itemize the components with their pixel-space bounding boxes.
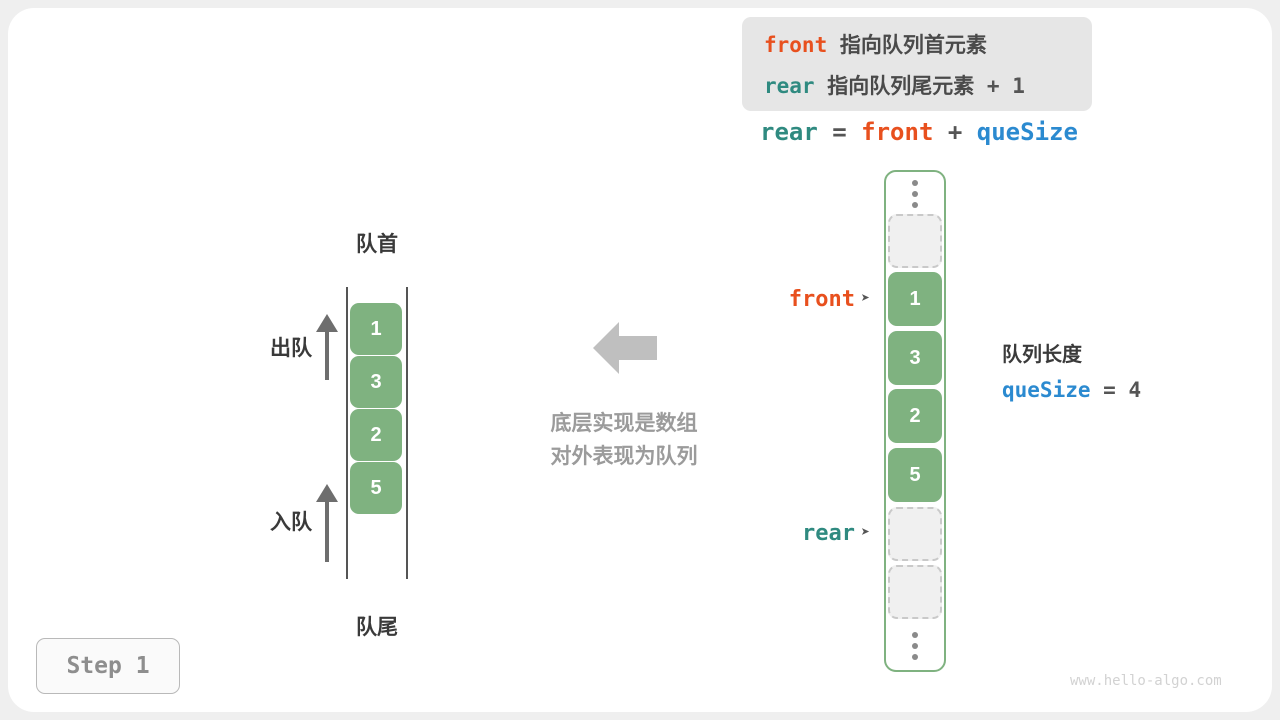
queue-size-expression: queSize = 4 xyxy=(1002,373,1141,407)
queue-cell-1: 3 xyxy=(350,356,402,408)
array-cell-3: 2 xyxy=(888,389,942,443)
array-cell-1: 1 xyxy=(888,272,942,326)
quesize-equals: = xyxy=(1103,378,1116,402)
array-cell-4: 5 xyxy=(888,448,942,502)
left-arrow-icon xyxy=(593,320,657,376)
queue-size-note: 队列长度 queSize = 4 xyxy=(1002,341,1141,407)
dequeue-label: 出队 xyxy=(222,332,312,362)
queue-size-title: 队列长度 xyxy=(1002,341,1141,369)
rear-pointer-label: rear➤ xyxy=(700,521,870,546)
queue-head-label: 队首 xyxy=(307,228,447,258)
formula-front: front xyxy=(861,118,933,146)
implementation-caption-line1: 底层实现是数组 xyxy=(504,407,744,440)
array-ellipsis-top xyxy=(888,180,942,208)
front-pointer-text: front xyxy=(789,287,855,312)
dequeue-arrow-icon xyxy=(314,314,340,380)
rear-pointer-caret-icon: ➤ xyxy=(861,523,870,541)
enqueue-label: 入队 xyxy=(222,506,312,536)
queue-rail-left xyxy=(346,287,348,579)
quesize-variable: queSize xyxy=(1002,378,1091,402)
step-badge: Step 1 xyxy=(36,638,180,694)
watermark: www.hello-algo.com xyxy=(1070,673,1222,689)
diagram-canvas: front 指向队列首元素 rear 指向队列尾元素 + 1 rear = fr… xyxy=(0,0,1280,720)
rear-offset-value: 1 xyxy=(1012,74,1025,98)
formula-equals: = xyxy=(832,118,846,146)
pointer-definition-box: front 指向队列首元素 rear 指向队列尾元素 + 1 xyxy=(742,17,1092,111)
array-ellipsis-bottom xyxy=(888,632,942,660)
implementation-caption: 底层实现是数组 对外表现为队列 xyxy=(504,407,744,473)
formula-plus: + xyxy=(948,118,962,146)
array-cell-2: 3 xyxy=(888,331,942,385)
array-cell-5 xyxy=(888,507,942,561)
rear-keyword: rear xyxy=(764,74,815,98)
rear-pointer-text: rear xyxy=(802,521,855,546)
front-keyword: front xyxy=(764,33,827,57)
array-cell-0 xyxy=(888,214,942,268)
note-line-rear: rear 指向队列尾元素 + 1 xyxy=(764,70,1025,100)
queue-cell-2: 2 xyxy=(350,409,402,461)
formula-rear: rear xyxy=(760,118,818,146)
rear-formula: rear = front + queSize xyxy=(760,118,1078,146)
array-cell-6 xyxy=(888,565,942,619)
queue-tail-label: 队尾 xyxy=(307,611,447,641)
enqueue-arrow-icon xyxy=(314,484,340,562)
queue-cell-3: 5 xyxy=(350,462,402,514)
quesize-value: 4 xyxy=(1128,378,1141,402)
rear-description: 指向队列尾元素 xyxy=(827,75,974,98)
queue-cell-0: 1 xyxy=(350,303,402,355)
queue-rail-right xyxy=(406,287,408,579)
front-description: 指向队列首元素 xyxy=(840,34,987,57)
rear-plus-sign: + xyxy=(987,74,1000,98)
implementation-caption-line2: 对外表现为队列 xyxy=(504,440,744,473)
front-pointer-label: front➤ xyxy=(700,287,870,312)
formula-quesize: queSize xyxy=(977,118,1078,146)
note-line-front: front 指向队列首元素 xyxy=(764,29,987,59)
front-pointer-caret-icon: ➤ xyxy=(861,289,870,307)
